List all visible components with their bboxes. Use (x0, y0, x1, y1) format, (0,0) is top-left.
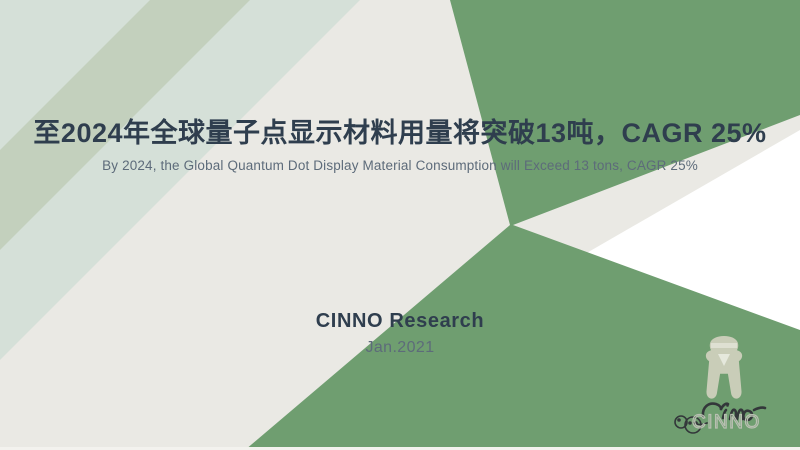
page-title: 至2024年全球量子点显示材料用量将突破13吨，CAGR 25% (0, 118, 800, 150)
logo-watermark-text: CINNO (692, 412, 761, 433)
title-block: 至2024年全球量子点显示材料用量将突破13吨，CAGR 25% By 2024… (0, 118, 800, 173)
page-subtitle: By 2024, the Global Quantum Dot Display … (0, 158, 800, 173)
presentation-slide: 至2024年全球量子点显示材料用量将突破13吨，CAGR 25% By 2024… (0, 0, 800, 450)
cinno-logo: CINNO (664, 330, 784, 442)
cinno-logo-graphic: CINNO (664, 330, 784, 442)
cicada-icon (706, 336, 742, 399)
